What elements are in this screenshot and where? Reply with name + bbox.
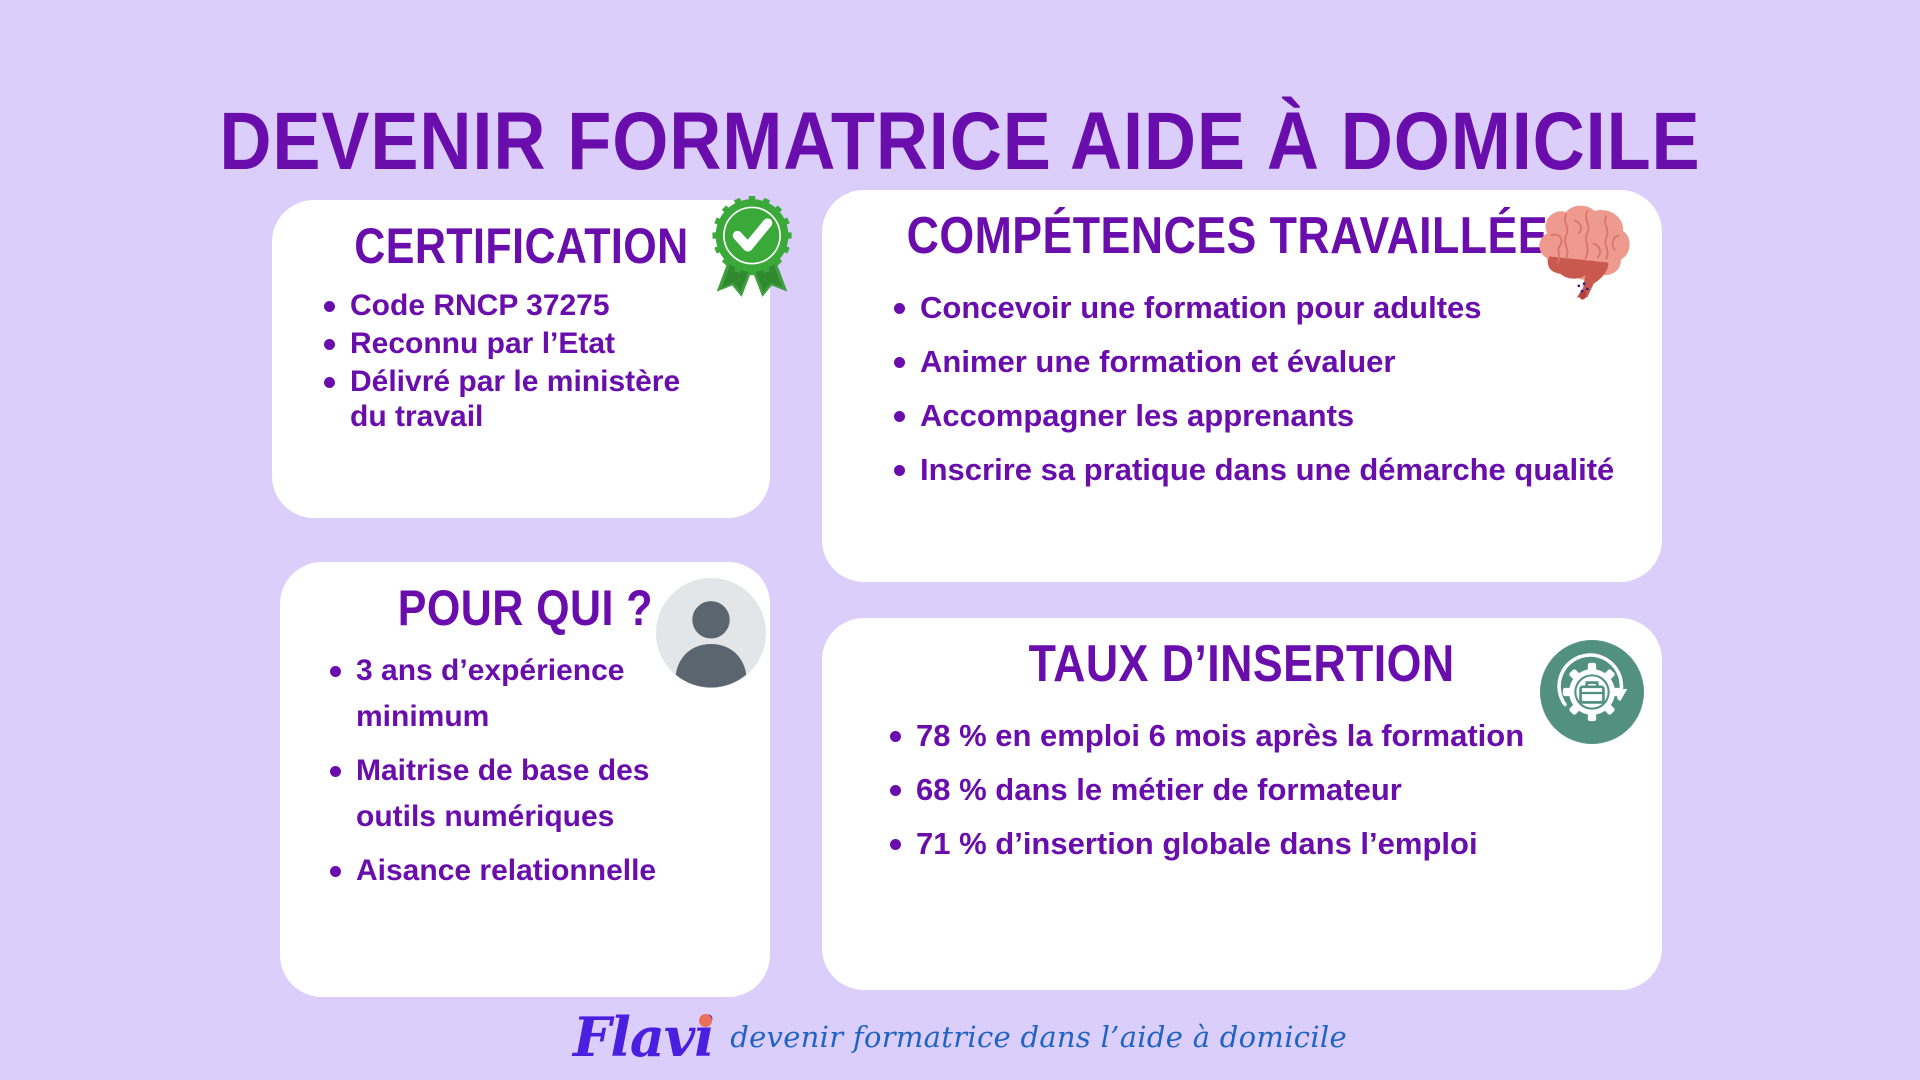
list-item: 71 % d’insertion globale dans l’emploi (882, 822, 1622, 866)
card-taux-insertion: TAUX D’INSERTION 78 % en emploi 6 mois a… (822, 618, 1662, 990)
list-item: Code RNCP 37275 (316, 288, 716, 323)
list-item: Inscrire sa pratique dans une démarche q… (886, 448, 1626, 492)
avatar-icon (656, 578, 766, 688)
gear-briefcase-icon (1540, 640, 1644, 744)
list-item: Accompagner les apprenants (886, 394, 1626, 438)
brand-name-text: Flavi (573, 1005, 714, 1069)
list-item: Animer une formation et évaluer (886, 340, 1626, 384)
card-taux-title: TAUX D’INSERTION (1029, 636, 1455, 692)
list-item: 78 % en emploi 6 mois après la formation (882, 714, 1622, 758)
card-pourqui-title: POUR QUI ? (397, 580, 652, 636)
list-item: Concevoir une formation pour adultes (886, 286, 1626, 330)
brand-dot-icon (699, 1014, 712, 1027)
brain-icon (1524, 196, 1640, 304)
brand-name: Flavi (573, 1010, 714, 1064)
card-certification-title: CERTIFICATION (354, 218, 688, 274)
footer-logo: Flavi devenir formatrice dans l’aide à d… (0, 1010, 1920, 1064)
verified-badge-icon (700, 196, 804, 300)
card-certification: CERTIFICATION Code RNCP 37275 Reconnu pa… (272, 200, 770, 518)
card-certification-header: CERTIFICATION (272, 200, 770, 274)
list-item: Aisance relationnelle (322, 848, 722, 894)
page-title: DEVENIR FORMATRICE AIDE À DOMICILE (115, 97, 1805, 187)
list-item: 68 % dans le métier de formateur (882, 768, 1622, 812)
list-item: Délivré par le ministère du travail (316, 364, 716, 434)
list-item: Reconnu par l’Etat (316, 326, 716, 361)
competences-bullet-list: Concevoir une formation pour adultes Ani… (886, 286, 1626, 492)
brand-tagline: devenir formatrice dans l’aide à domicil… (730, 1021, 1347, 1053)
list-item: Maitrise de base des outils numériques (322, 748, 722, 840)
card-taux-header: TAUX D’INSERTION (822, 618, 1662, 692)
taux-bullet-list: 78 % en emploi 6 mois après la formation… (882, 714, 1622, 866)
certification-bullet-list: Code RNCP 37275 Reconnu par l’Etat Déliv… (316, 288, 716, 434)
card-competences-title: COMPÉTENCES TRAVAILLÉES (906, 208, 1578, 264)
